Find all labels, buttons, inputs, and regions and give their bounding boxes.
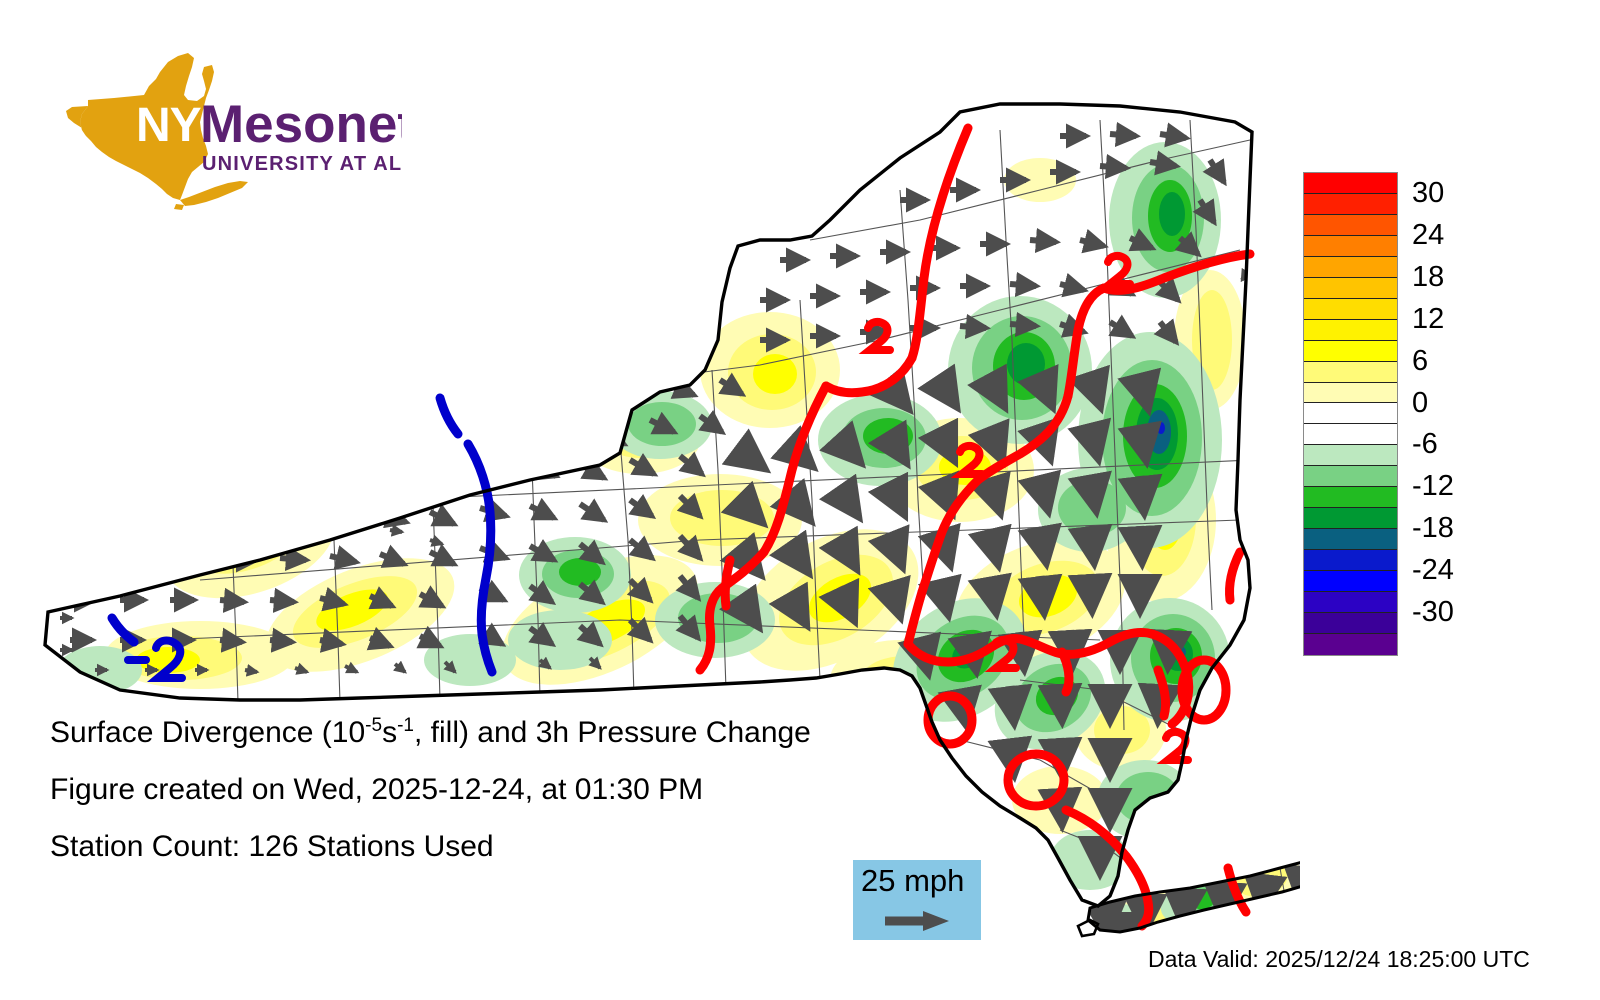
colorbar-tick-label: 6: [1412, 347, 1428, 376]
colorbar-tick-label: 18: [1412, 263, 1444, 292]
caption-title-part-c: , fill) and 3h Pressure Change: [414, 716, 811, 749]
caption-title-exponent-1: -5: [365, 715, 382, 736]
colorbar-band: [1304, 362, 1397, 383]
figure-canvas: NYS Mesonet UNIVERSITY AT ALBANY: [0, 0, 1600, 1000]
colorbar-band: [1304, 383, 1397, 404]
data-valid-timestamp: Data Valid: 2025/12/24 18:25:00 UTC: [1148, 948, 1530, 971]
caption-created-line: Figure created on Wed, 2025-12-24, at 01…: [50, 775, 950, 805]
colorbar-band: [1304, 613, 1397, 634]
colorbar-band: [1304, 278, 1397, 299]
colorbar-tick-label: -24: [1412, 556, 1454, 585]
colorbar-band: [1304, 403, 1397, 424]
colorbar-band: [1304, 236, 1397, 257]
colorbar-band: [1304, 466, 1397, 487]
caption-title-part-b: s: [382, 716, 397, 749]
wind-scale-legend: 25 mph: [853, 860, 981, 940]
colorbar-band: [1304, 424, 1397, 445]
wind-scale-arrow-icon: [883, 908, 953, 934]
colorbar-tick-label: -18: [1412, 514, 1454, 543]
wind-scale-label: 25 mph: [861, 864, 964, 898]
caption-station-count-line: Station Count: 126 Stations Used: [50, 832, 950, 862]
colorbar-band: [1304, 508, 1397, 529]
colorbar-tick-label: 30: [1412, 179, 1444, 208]
colorbar-tick-label: -12: [1412, 472, 1454, 501]
colorbar-band: [1304, 445, 1397, 466]
staten-island-outline: [1078, 920, 1098, 936]
colorbar-band: [1304, 173, 1397, 194]
caption-title: Surface Divergence (10-5s-1, fill) and 3…: [50, 718, 950, 748]
colorbar-tick-label: 12: [1412, 305, 1444, 334]
figure-caption: Surface Divergence (10-5s-1, fill) and 3…: [50, 718, 950, 889]
colorbar-band: [1304, 550, 1397, 571]
colorbar-band: [1304, 571, 1397, 592]
colorbar-band: [1304, 592, 1397, 613]
colorbar-tick-label: -6: [1412, 430, 1438, 459]
divergence-colorbar[interactable]: [1303, 172, 1398, 656]
colorbar-band: [1304, 529, 1397, 550]
colorbar-band: [1304, 257, 1397, 278]
colorbar-band: [1304, 487, 1397, 508]
caption-title-part-a: Surface Divergence (10: [50, 716, 365, 749]
colorbar-tick-label: 24: [1412, 221, 1444, 250]
colorbar-band: [1304, 634, 1397, 655]
colorbar-tick-labels: 3024181260-6-12-18-24-30: [1412, 172, 1532, 656]
colorbar-band: [1304, 215, 1397, 236]
colorbar-band: [1304, 341, 1397, 362]
colorbar-tick-label: 0: [1412, 389, 1428, 418]
colorbar-band: [1304, 299, 1397, 320]
colorbar-tick-label: -30: [1412, 598, 1454, 627]
colorbar-band: [1304, 194, 1397, 215]
colorbar-band: [1304, 320, 1397, 341]
caption-title-exponent-2: -1: [397, 715, 414, 736]
